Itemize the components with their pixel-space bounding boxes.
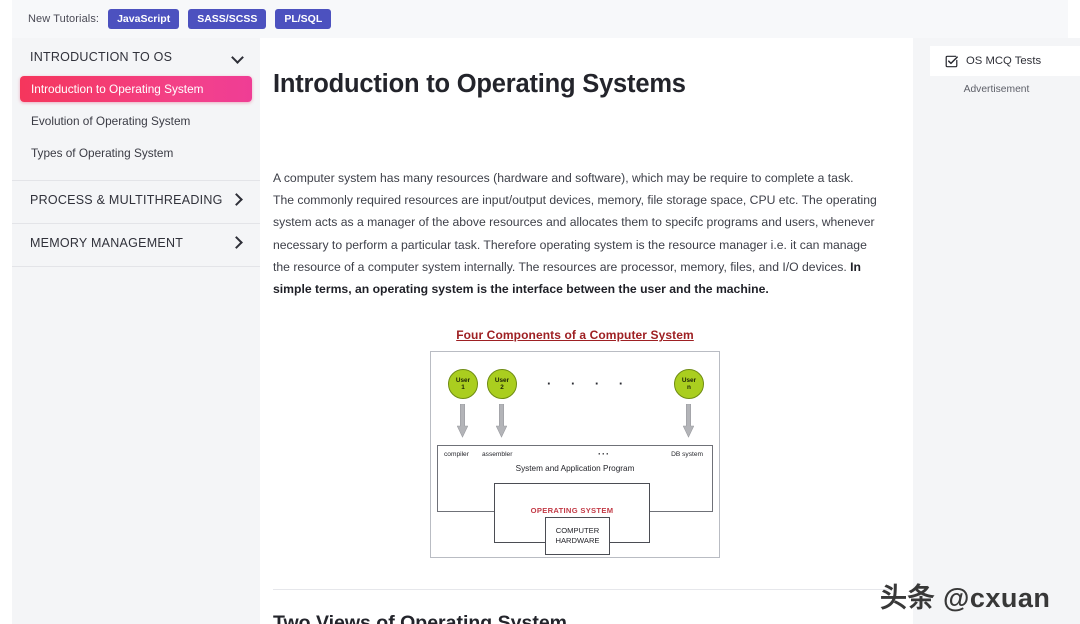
sidebar-item-introduction-to-operating-system[interactable]: Introduction to Operating System	[20, 76, 252, 102]
user-node-label-line1: User	[495, 377, 509, 384]
user-node-label-line1: User	[682, 377, 696, 384]
users-ellipsis: · · · ·	[547, 376, 631, 391]
checkbox-checked-icon	[945, 55, 958, 68]
page-title: Introduction to Operating Systems	[273, 70, 877, 99]
user-node-label-line2: 1	[461, 384, 465, 391]
sidebar-group-items-introduction-to-os: Introduction to Operating System Evoluti…	[12, 76, 260, 176]
advertisement-label: Advertisement	[913, 84, 1080, 95]
watermark: 头条 @cxuan	[880, 576, 1050, 615]
software-label-compiler: compiler	[444, 451, 469, 458]
section-heading-two-views: Two Views of Operating System	[273, 612, 877, 624]
user-node-label-line2: n	[687, 384, 691, 391]
sidebar-item-label: Types of Operating System	[31, 146, 173, 160]
diagram-computer-system: User 1 User 2 User n · · · ·	[430, 351, 720, 558]
computer-hardware-line1: COMPUTER	[556, 526, 599, 535]
tutorial-pill-javascript[interactable]: JavaScript	[108, 9, 179, 30]
user-node-1: User 1	[448, 369, 478, 399]
arrow-down-icon-usern	[683, 404, 694, 438]
sidebar-group-label: PROCESS & MULTITHREADING	[30, 193, 223, 207]
arrow-down-icon-user2	[496, 404, 507, 438]
operating-system-label: OPERATING SYSTEM	[531, 506, 614, 515]
sidebar-group-label: INTRODUCTION TO OS	[30, 50, 172, 64]
computer-hardware-label: COMPUTERHARDWARE	[555, 526, 599, 546]
tutorial-pill-plsql[interactable]: PL/SQL	[275, 9, 331, 30]
user-node-label-line2: 2	[500, 384, 504, 391]
computer-hardware-line2: HARDWARE	[555, 536, 599, 545]
computer-hardware-box: COMPUTERHARDWARE	[545, 517, 610, 555]
system-application-program-label: System and Application Program	[438, 464, 712, 473]
os-mcq-tests-label: OS MCQ Tests	[966, 55, 1041, 67]
new-tutorials-label: New Tutorials:	[28, 13, 99, 25]
top-tutorials-bar: New Tutorials: JavaScript SASS/SCSS PL/S…	[12, 0, 1068, 38]
sidebar-item-types-of-operating-system[interactable]: Types of Operating System	[20, 140, 252, 166]
right-rail: OS MCQ Tests Advertisement	[913, 38, 1080, 624]
sidebar-group-introduction-to-os[interactable]: INTRODUCTION TO OS	[12, 38, 260, 76]
software-label-db-system: DB system	[671, 451, 703, 458]
software-label-assembler: assembler	[482, 451, 512, 458]
user-node-label-line1: User	[456, 377, 470, 384]
user-node-2: User 2	[487, 369, 517, 399]
left-sidebar: INTRODUCTION TO OS Introduction to Opera…	[12, 38, 260, 624]
chevron-right-icon	[232, 194, 244, 206]
tutorial-pill-sass-scss[interactable]: SASS/SCSS	[188, 9, 266, 30]
page-root: New Tutorials: JavaScript SASS/SCSS PL/S…	[0, 0, 1080, 624]
section-divider	[273, 589, 891, 590]
figure-four-components: Four Components of a Computer System Use…	[273, 328, 877, 558]
sidebar-group-process-multithreading[interactable]: PROCESS & MULTITHREADING	[12, 181, 260, 219]
sidebar-divider	[12, 266, 260, 267]
intro-paragraph-text: A computer system has many resources (ha…	[273, 171, 877, 274]
sidebar-item-label: Introduction to Operating System	[31, 82, 203, 96]
sidebar-item-label: Evolution of Operating System	[31, 114, 190, 128]
sidebar-group-memory-management[interactable]: MEMORY MANAGEMENT	[12, 224, 260, 262]
arrow-down-icon-user1	[457, 404, 468, 438]
figure-title: Four Components of a Computer System	[273, 328, 877, 342]
intro-paragraph: A computer system has many resources (ha…	[273, 167, 877, 300]
main-content: Introduction to Operating Systems A comp…	[260, 38, 913, 624]
user-node-n: User n	[674, 369, 704, 399]
sidebar-group-label: MEMORY MANAGEMENT	[30, 236, 183, 250]
os-mcq-tests-card[interactable]: OS MCQ Tests	[930, 46, 1080, 76]
chevron-right-icon	[232, 237, 244, 249]
sidebar-item-evolution-of-operating-system[interactable]: Evolution of Operating System	[20, 108, 252, 134]
software-ellipsis: ···	[598, 449, 610, 459]
chevron-down-icon	[232, 51, 244, 63]
